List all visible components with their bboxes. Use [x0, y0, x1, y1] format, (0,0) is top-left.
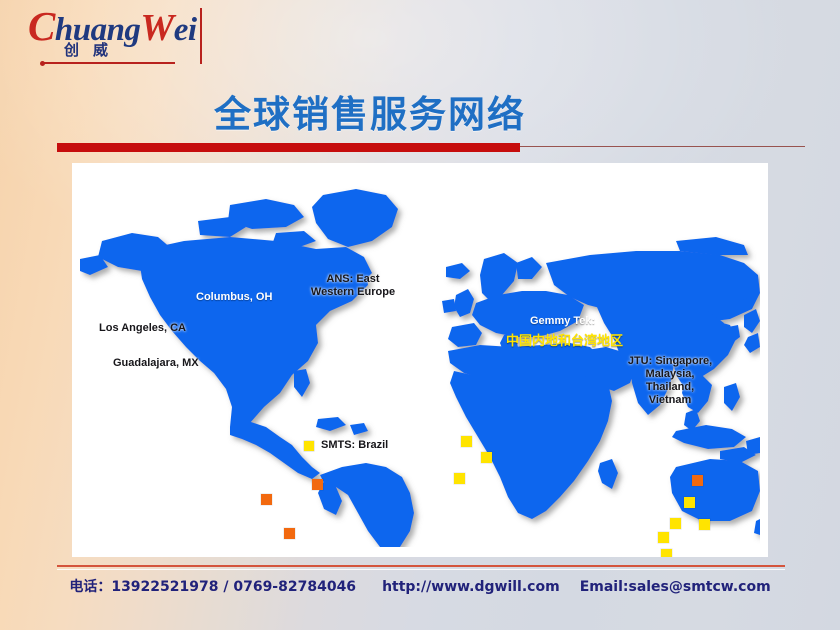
slide-root: ChuangWei 创威 全球销售服务网络	[0, 0, 840, 630]
footer-phone-label: 电话：	[69, 576, 111, 596]
logo-bracket-horizontal	[42, 62, 175, 64]
logo-dot	[40, 61, 45, 66]
map-label-smts-brazil: SMTS: Brazil	[321, 439, 388, 452]
logo-letters-ei: ei	[174, 12, 197, 48]
marker-guadalajara-mx[interactable]	[284, 528, 295, 539]
map-stage: Columbus, OH Los Angeles, CA Guadalajara…	[72, 163, 768, 557]
marker-china-east[interactable]	[684, 497, 695, 508]
logo-bracket-vertical	[200, 8, 202, 64]
footer-contact-bar: 电话：13922521978 / 0769-82784046http://www…	[0, 576, 840, 596]
logo-letter-w: W	[140, 7, 173, 49]
map-label-ans-europe: ANS: East Western Europe	[302, 273, 404, 299]
marker-europe-west[interactable]	[454, 473, 465, 484]
logo-chinese-name: 创威	[64, 39, 122, 60]
map-label-jtu: JTU: Singapore, Malaysia, Thailand, Viet…	[618, 355, 722, 407]
map-label-ans-line2: Western Europe	[302, 286, 404, 299]
company-logo: ChuangWei 创威	[28, 6, 208, 72]
world-map-panel: Columbus, OH Los Angeles, CA Guadalajara…	[72, 163, 768, 557]
map-label-los-angeles: Los Angeles, CA	[99, 322, 186, 335]
legend-smts-brazil: SMTS: Brazil	[304, 439, 388, 452]
yellow-square-marker-icon	[304, 441, 314, 451]
map-label-guadalajara: Guadalajara, MX	[113, 357, 199, 370]
map-label-gemmy-tek-region: 中国内地和台湾地区	[506, 335, 623, 348]
map-label-ans-line1: ANS: East	[302, 273, 404, 286]
marker-europe-east[interactable]	[481, 452, 492, 463]
map-label-jtu-line2: Malaysia,	[618, 368, 722, 381]
title-rule-thick	[57, 143, 520, 152]
map-label-gemmy-tek: Gemmy Tek:	[530, 315, 595, 328]
map-label-jtu-line1: JTU: Singapore,	[618, 355, 722, 368]
marker-europe-north[interactable]	[461, 436, 472, 447]
marker-korea-japan[interactable]	[692, 475, 703, 486]
map-label-jtu-line4: Vietnam	[618, 394, 722, 407]
marker-vietnam[interactable]	[661, 549, 672, 557]
marker-taiwan[interactable]	[699, 519, 710, 530]
footer-website[interactable]: http://www.dgwill.com	[382, 579, 560, 595]
footer-phone-numbers: 13922521978 / 0769-82784046	[111, 579, 356, 595]
footer-email[interactable]: Email:sales@smtcw.com	[580, 579, 771, 595]
marker-columbus-oh[interactable]	[312, 479, 323, 490]
marker-china-central[interactable]	[670, 518, 681, 529]
map-label-jtu-line3: Thailand,	[618, 381, 722, 394]
marker-los-angeles-ca[interactable]	[261, 494, 272, 505]
footer-divider-highlight	[57, 569, 785, 570]
page-title: 全球销售服务网络	[214, 84, 526, 138]
logo-letter-c: C	[28, 3, 55, 49]
footer-divider	[57, 565, 785, 567]
map-label-columbus: Columbus, OH	[196, 291, 272, 304]
marker-china-south[interactable]	[658, 532, 669, 543]
